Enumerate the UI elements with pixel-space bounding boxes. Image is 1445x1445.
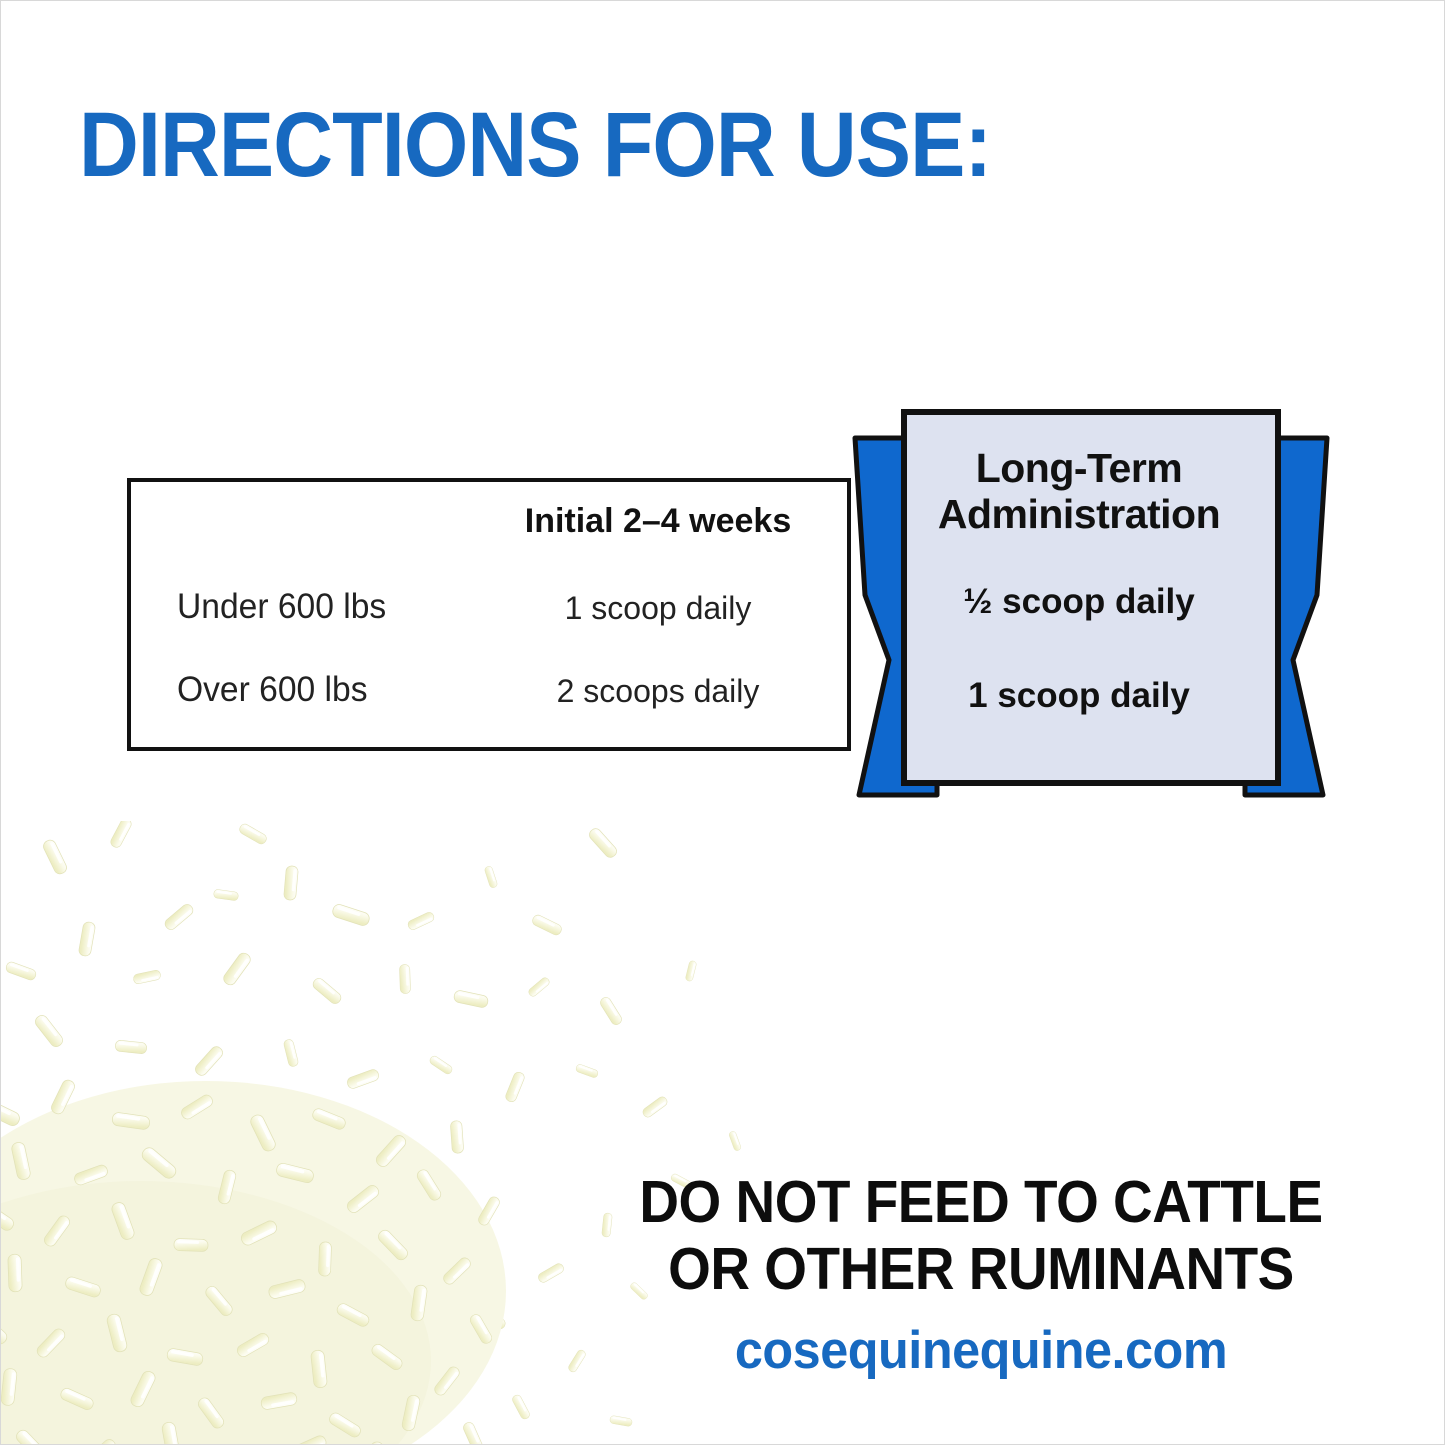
warning-line-1: DO NOT FEED TO CATTLE xyxy=(628,1169,1335,1236)
long-term-heading-line1: Long-Term xyxy=(904,446,1254,492)
table-row-label-over-600: Over 600 lbs xyxy=(177,670,368,710)
product-label-panel: DIRECTIONS FOR USE: xyxy=(0,0,1445,1445)
table-row-value-under-600: 1 scoop daily xyxy=(483,590,833,627)
long-term-heading: Long-Term Administration xyxy=(904,446,1254,538)
table-row-value-over-600: 2 scoops daily xyxy=(483,673,833,710)
long-term-heading-line2: Administration xyxy=(904,492,1254,538)
table-column-header-initial: Initial 2–4 weeks xyxy=(483,502,833,541)
website-url[interactable]: cosequinequine.com xyxy=(620,1320,1342,1381)
warning-block: DO NOT FEED TO CATTLE OR OTHER RUMINANTS… xyxy=(601,1169,1361,1381)
dosage-table: Initial 2–4 weeks Under 600 lbs 1 scoop … xyxy=(127,478,851,751)
table-row-label-under-600: Under 600 lbs xyxy=(177,587,386,627)
warning-line-2: OR OTHER RUMINANTS xyxy=(628,1236,1335,1303)
page-title: DIRECTIONS FOR USE: xyxy=(79,97,991,194)
long-term-dose-over-600: 1 scoop daily xyxy=(904,676,1254,716)
long-term-administration-panel: Long-Term Administration ½ scoop daily 1… xyxy=(904,412,1254,783)
long-term-dose-under-600: ½ scoop daily xyxy=(904,582,1254,622)
